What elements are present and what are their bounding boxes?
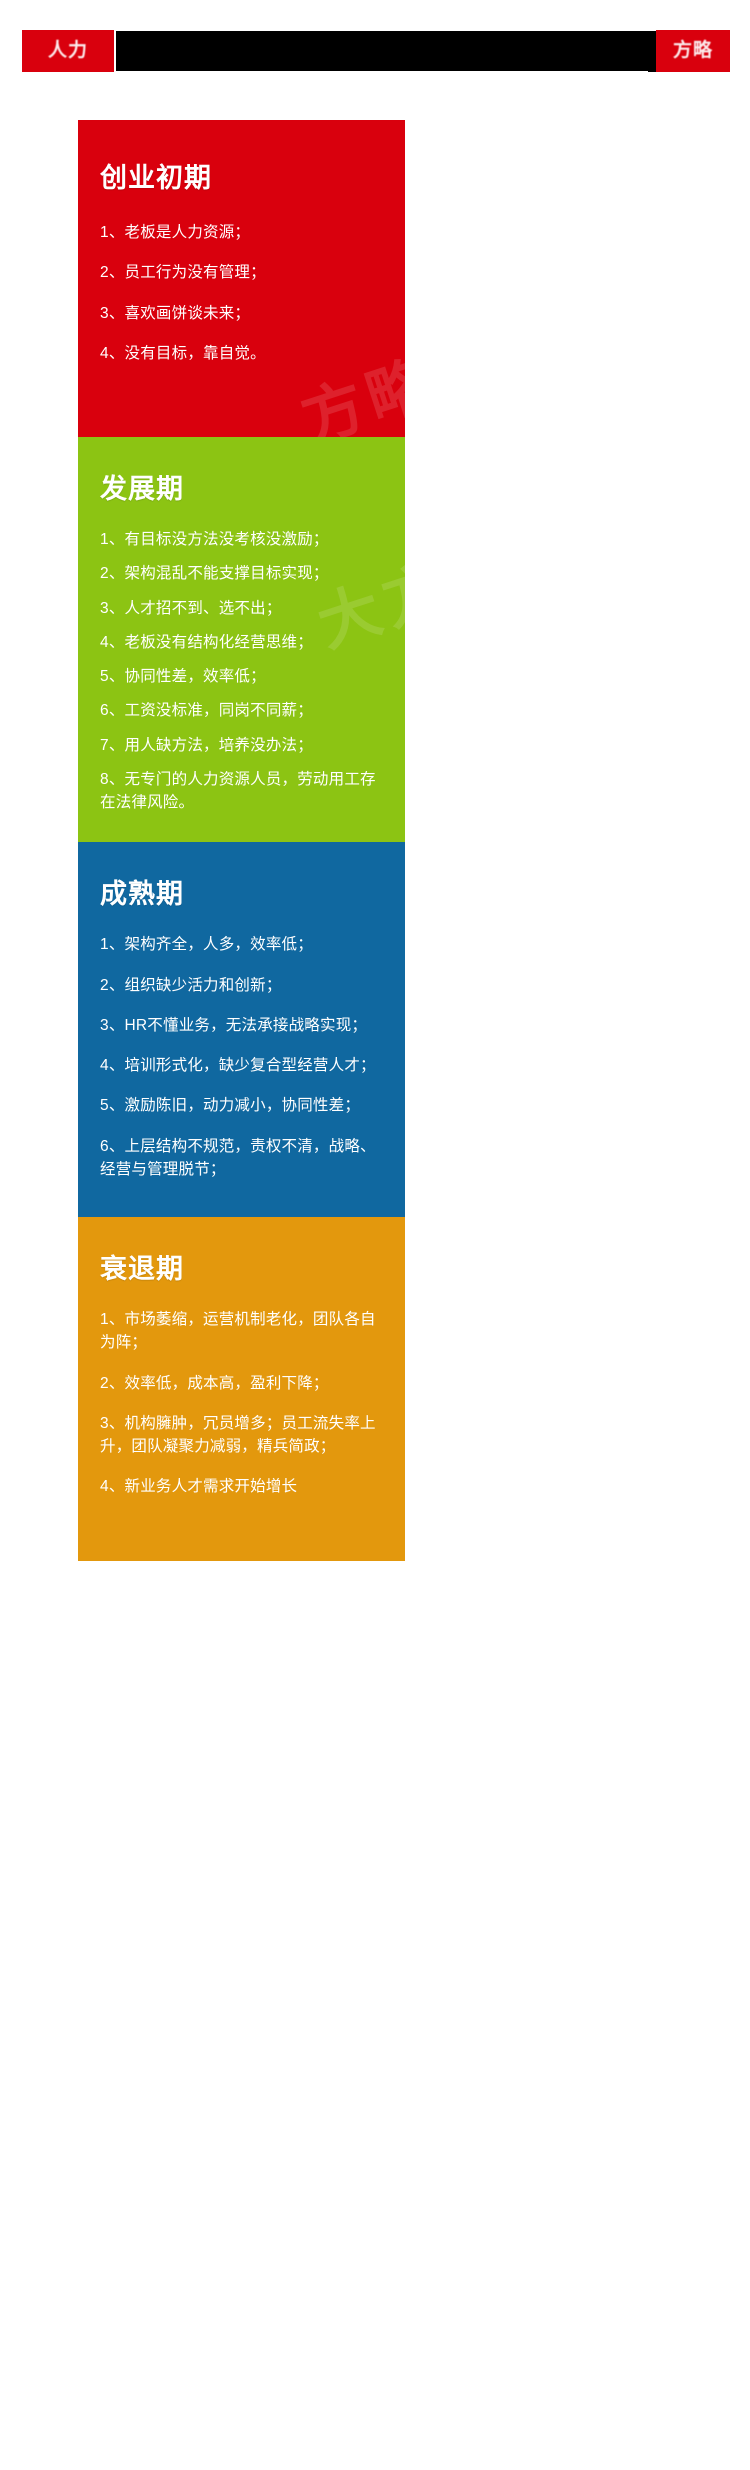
list-item: 2、员工行为没有管理；	[100, 261, 383, 284]
stage-title-decline: 衰退期	[100, 1217, 383, 1308]
stage-title-growth: 发展期	[100, 437, 383, 528]
list-item: 6、上层结构不规范，责权不清，战略、经营与管理脱节；	[100, 1135, 383, 1182]
list-item: 4、老板没有结构化经营思维；	[100, 631, 383, 654]
list-item: 4、新业务人才需求开始增长	[100, 1475, 383, 1498]
list-item: 5、协同性差，效率低；	[100, 665, 383, 688]
logo-block-right: 方略	[656, 30, 730, 72]
list-item: 2、效率低，成本高，盈利下降；	[100, 1372, 383, 1395]
stage-item-list-decline: 1、市场萎缩，运营机制老化，团队各自为阵； 2、效率低，成本高，盈利下降； 3、…	[100, 1308, 383, 1561]
stage-item-list-mature: 1、架构齐全，人多，效率低； 2、组织缺少活力和创新； 3、HR不懂业务，无法承…	[100, 933, 383, 1217]
list-item: 3、人才招不到、选不出；	[100, 597, 383, 620]
list-item: 5、激励陈旧，动力减小，协同性差；	[100, 1094, 383, 1117]
list-item: 2、组织缺少活力和创新；	[100, 974, 383, 997]
list-item: 1、市场萎缩，运营机制老化，团队各自为阵；	[100, 1308, 383, 1355]
list-item: 1、有目标没方法没考核没激励；	[100, 528, 383, 551]
list-item: 6、工资没标准，同岗不同薪；	[100, 699, 383, 722]
stage-panel-growth: 大方 发展期 1、有目标没方法没考核没激励； 2、架构混乱不能支撑目标实现； 3…	[78, 437, 405, 842]
stage-title-mature: 成熟期	[100, 842, 383, 933]
stage-panel-stack: 方略 创业初期 1、老板是人力资源； 2、员工行为没有管理； 3、喜欢画饼谈未来…	[78, 120, 405, 1561]
stage-panel-decline: 衰退期 1、市场萎缩，运营机制老化，团队各自为阵； 2、效率低，成本高，盈利下降…	[78, 1217, 405, 1561]
logo-right-text: 方略	[656, 30, 730, 72]
page-header: 人力 方略	[0, 30, 750, 72]
list-item: 3、机构臃肿，冗员增多；员工流失率上升，团队凝聚力减弱，精兵简政；	[100, 1412, 383, 1459]
stage-item-list-growth: 1、有目标没方法没考核没激励； 2、架构混乱不能支撑目标实现； 3、人才招不到、…	[100, 528, 383, 842]
list-item: 7、用人缺方法，培养没办法；	[100, 734, 383, 757]
list-item: 1、老板是人力资源；	[100, 221, 383, 244]
list-item: 3、喜欢画饼谈未来；	[100, 302, 383, 325]
list-item: 1、架构齐全，人多，效率低；	[100, 933, 383, 956]
stage-panel-mature: 成熟期 1、架构齐全，人多，效率低； 2、组织缺少活力和创新； 3、HR不懂业务…	[78, 842, 405, 1217]
stage-title-startup: 创业初期	[100, 120, 383, 221]
list-item: 2、架构混乱不能支撑目标实现；	[100, 562, 383, 585]
list-item: 8、无专门的人力资源人员，劳动用工存在法律风险。	[100, 768, 383, 815]
list-item: 4、培训形式化，缺少复合型经营人才；	[100, 1054, 383, 1077]
list-item: 3、HR不懂业务，无法承接战略实现；	[100, 1014, 383, 1037]
list-item: 4、没有目标，靠自觉。	[100, 342, 383, 365]
logo-block-left: 人力	[22, 30, 114, 72]
stage-panel-startup: 方略 创业初期 1、老板是人力资源； 2、员工行为没有管理； 3、喜欢画饼谈未来…	[78, 120, 405, 437]
logo-left-text: 人力	[22, 30, 114, 72]
redaction-bar-title	[116, 31, 656, 71]
infographic-page: 人力 方略 方略 创业初期 1、老板是人力资源； 2、员工行为没有管理； 3、喜…	[0, 0, 750, 2470]
stage-item-list-startup: 1、老板是人力资源； 2、员工行为没有管理； 3、喜欢画饼谈未来； 4、没有目标…	[100, 221, 383, 437]
